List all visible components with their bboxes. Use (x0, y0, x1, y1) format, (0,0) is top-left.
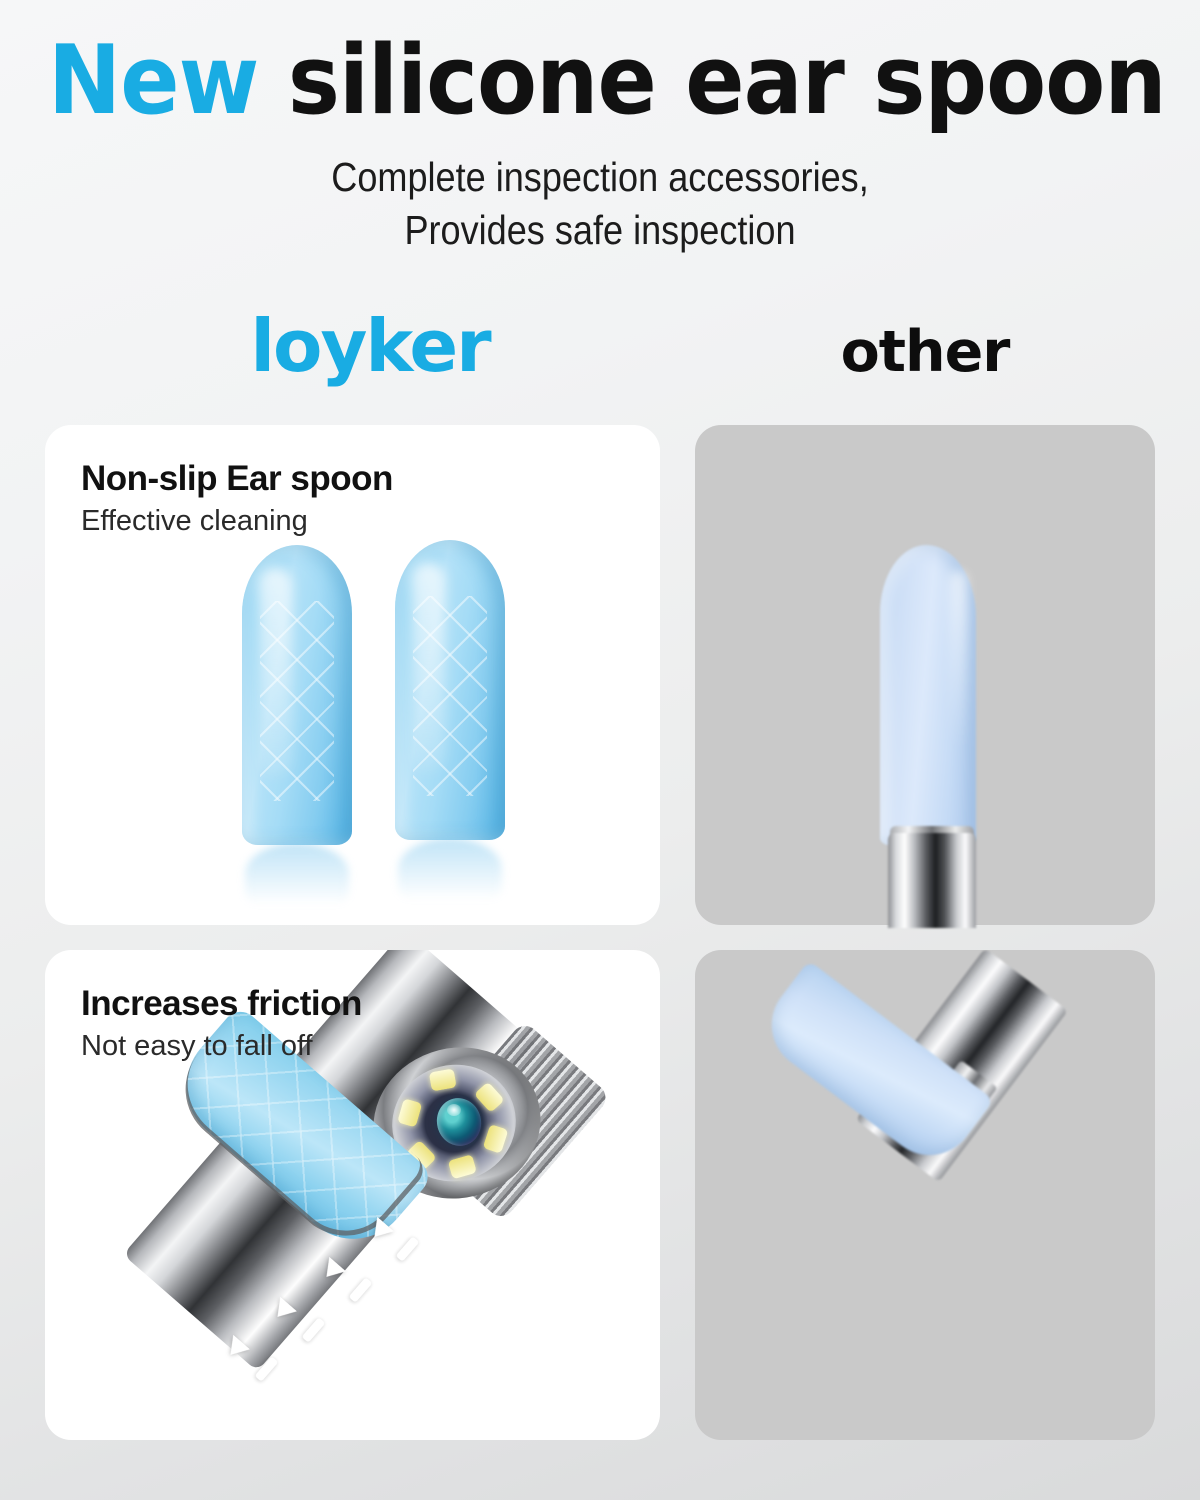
panel-other-spoon-detail (695, 950, 1155, 1440)
other-smooth-spoon (880, 545, 976, 845)
panel-title: Non-slip Ear spoon (81, 459, 393, 499)
chrome-shaft (888, 833, 976, 928)
silicone-tip-right (395, 540, 505, 840)
panel-subtitle: Not easy to fall off (81, 1030, 313, 1063)
tip-reflection (245, 843, 349, 905)
diamond-texture-icon (260, 601, 334, 801)
panel-subtitle: Effective cleaning (81, 505, 308, 538)
panel-title: Increases friction (81, 984, 362, 1024)
diamond-texture-icon (413, 596, 487, 796)
silicone-tip-left (242, 545, 352, 845)
panel-increases-friction: Increases friction Not easy to fall off (45, 950, 660, 1440)
tip-reflection (398, 838, 502, 900)
